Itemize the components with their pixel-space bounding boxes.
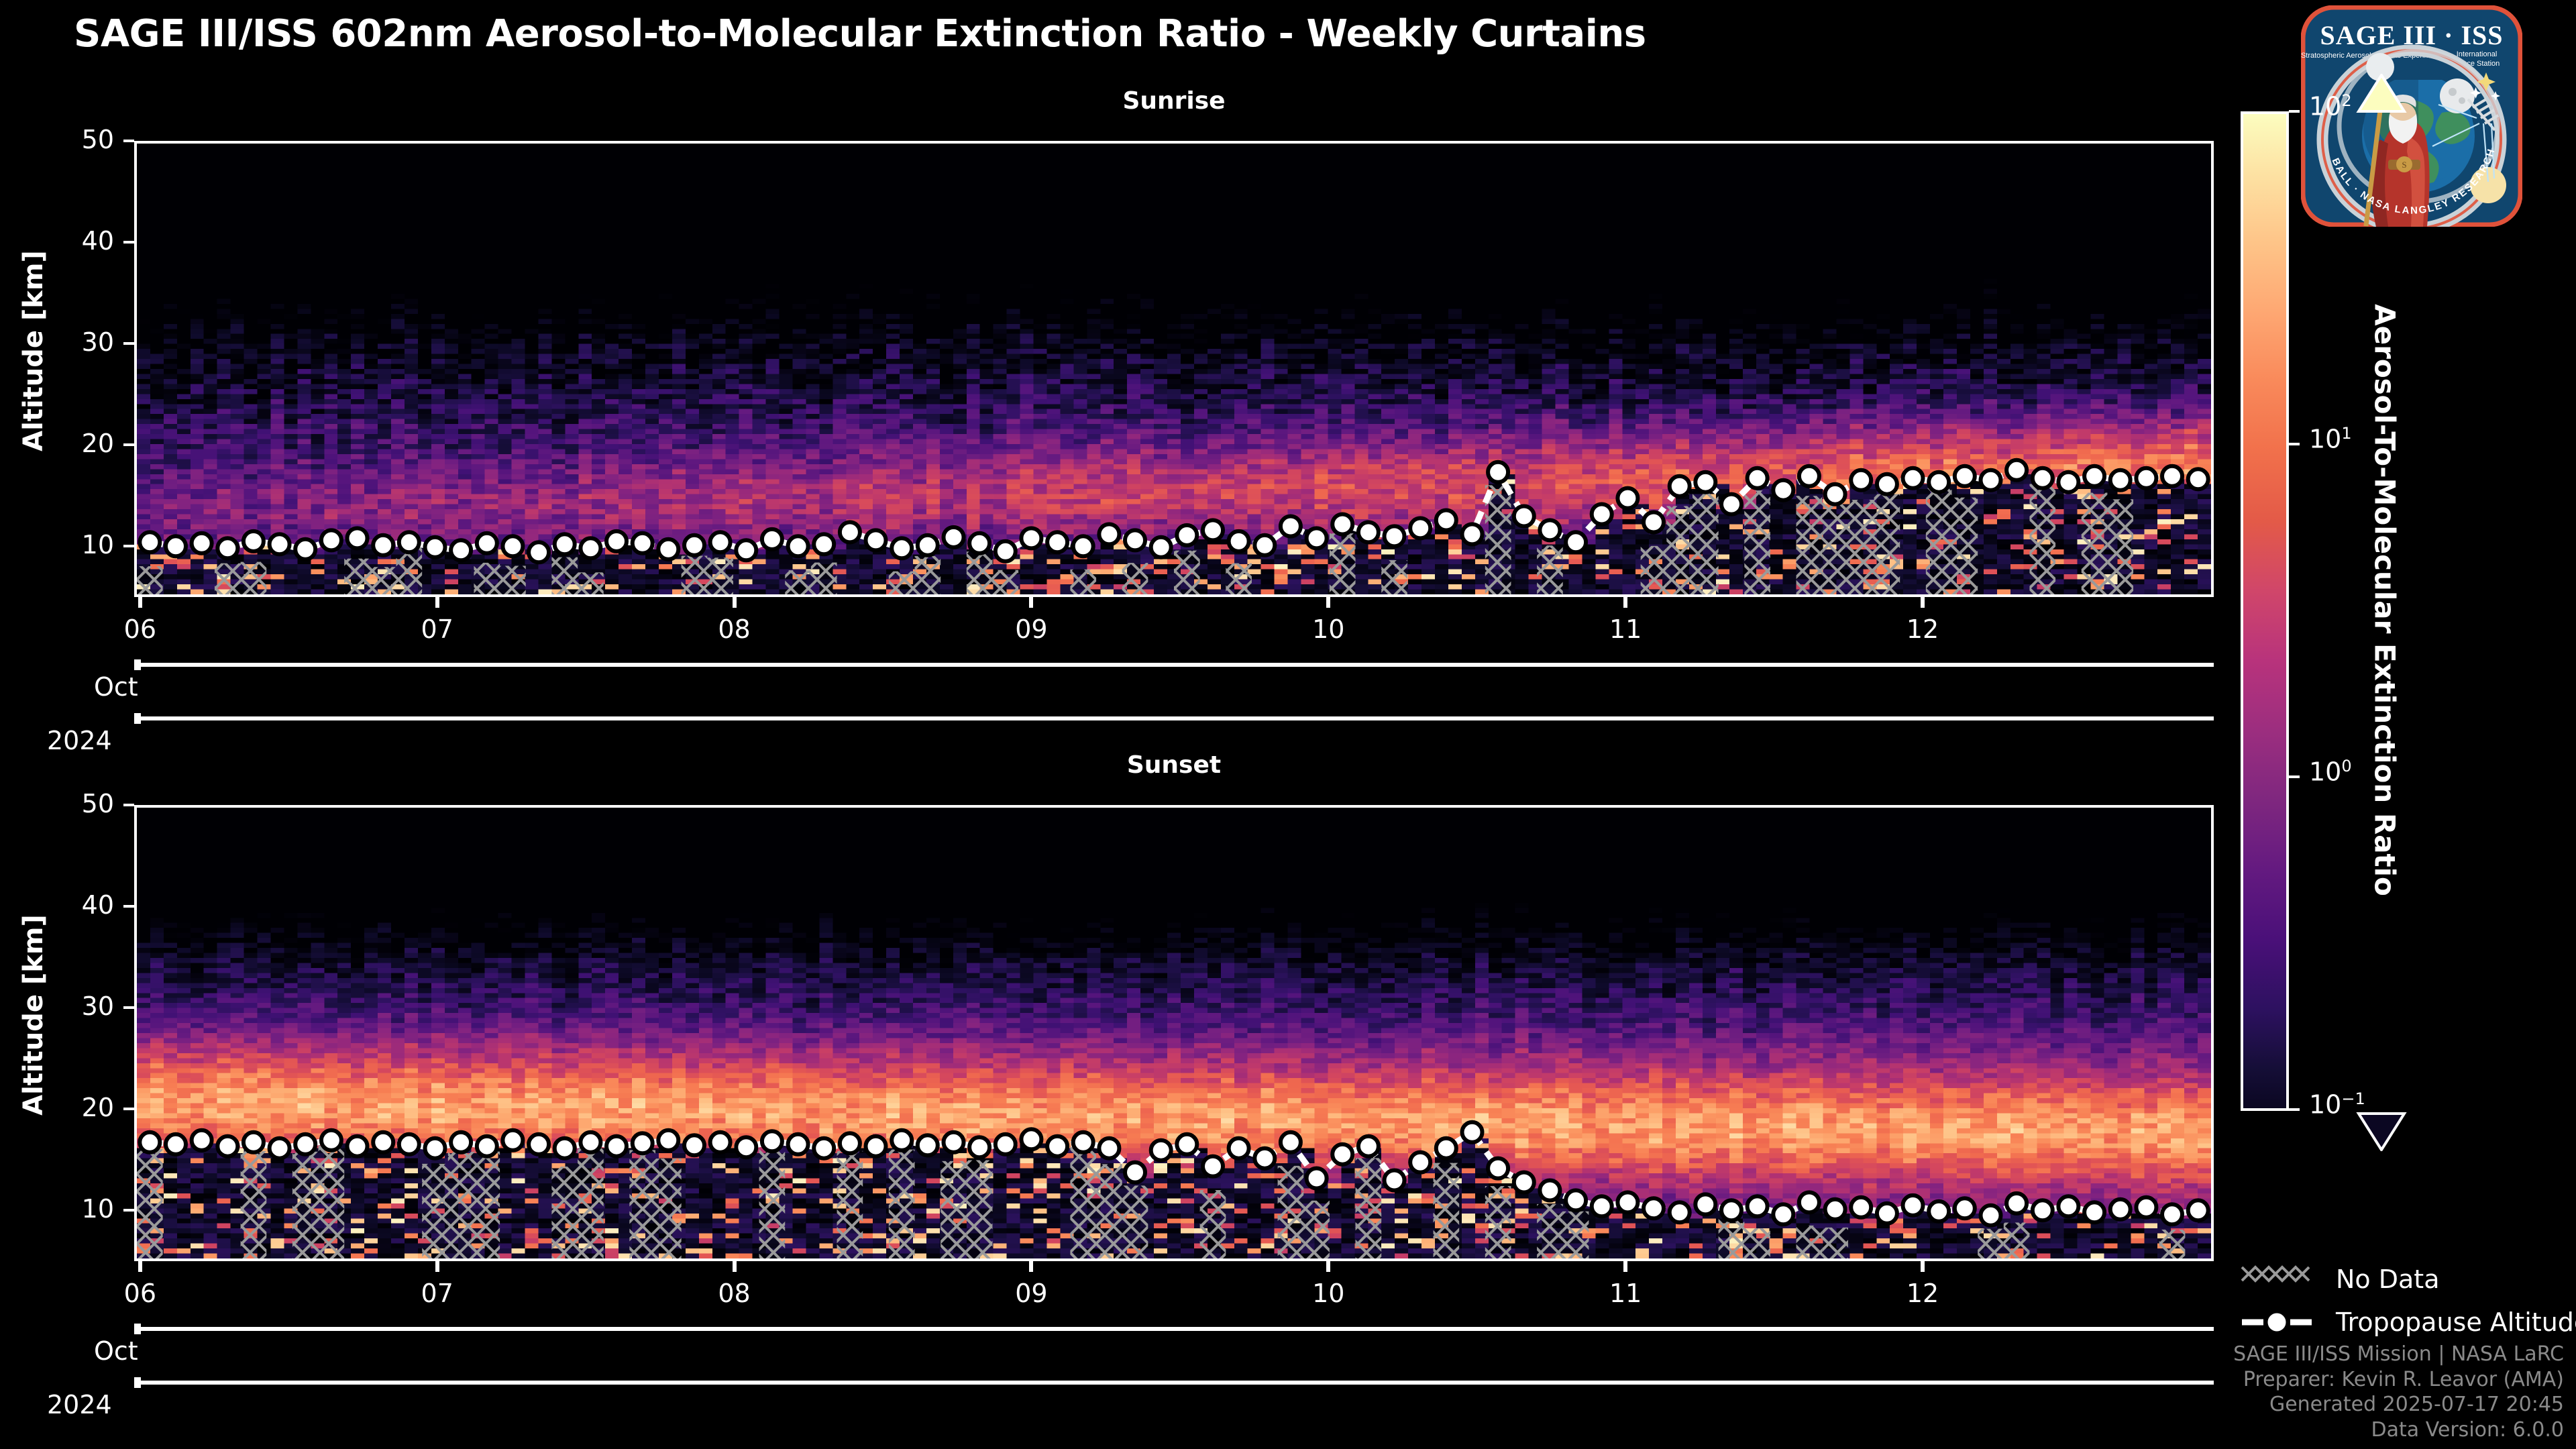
no-data-hatch-block — [292, 1152, 319, 1258]
tropopause-marker — [814, 534, 834, 554]
tropopause-marker — [1047, 1136, 1067, 1157]
x-tick-mark — [138, 597, 142, 608]
tropopause-marker — [1773, 480, 1793, 500]
y-tick-mark — [123, 1108, 134, 1110]
legend-item-tropopause[interactable]: Tropopause Altitude — [2241, 1304, 2576, 1340]
tropopause-marker — [1099, 524, 1119, 544]
y-tick-label: 10 — [27, 1194, 114, 1224]
tropopause-marker — [1462, 1122, 1483, 1142]
tropopause-marker — [1540, 520, 1560, 540]
date-row-month-label: Oct — [94, 672, 138, 702]
y-tick-label: 30 — [27, 327, 114, 357]
no-data-hatch-block — [941, 1161, 967, 1258]
tropopause-marker — [1592, 1196, 1612, 1216]
x-tick-label: 08 — [694, 1279, 775, 1308]
tropopause-marker — [244, 531, 264, 551]
tropopause-marker — [192, 1130, 212, 1150]
no-data-hatch-block — [1226, 563, 1252, 594]
tropopause-marker — [1644, 1198, 1664, 1218]
legend-item-no-data[interactable]: No Data — [2241, 1261, 2576, 1297]
no-data-hatch-block — [1978, 1229, 2004, 1258]
tropopause-marker — [555, 1138, 575, 1159]
tropopause-marker — [788, 1134, 808, 1155]
tropopause-marker — [1099, 1138, 1119, 1159]
tropopause-marker — [866, 1136, 886, 1157]
no-data-hatch-block — [2004, 1222, 2030, 1258]
x-tick-label: 12 — [1882, 1279, 1963, 1308]
x-tick-label: 10 — [1288, 1279, 1368, 1308]
no-data-hatch-block — [241, 562, 267, 594]
legend-label-tropopause: Tropopause Altitude — [2336, 1307, 2576, 1337]
tropopause-marker — [1073, 536, 1093, 556]
no-data-hatch-block — [370, 567, 396, 594]
tropopause-marker — [1307, 1169, 1327, 1189]
no-data-hatch-block — [474, 563, 500, 594]
tropopause-marker — [1281, 1132, 1301, 1152]
no-data-hatch-block — [422, 1164, 448, 1258]
y-tick-mark — [123, 140, 134, 142]
no-data-hatch-block — [1174, 551, 1200, 594]
no-data-hatch-block — [1641, 546, 1667, 594]
y-tick-mark — [123, 342, 134, 345]
tropopause-marker — [1514, 1173, 1534, 1193]
legend: No Data Tropopause Altitude — [2241, 1261, 2576, 1347]
no-data-hatch-block — [1356, 1158, 1382, 1258]
y-tick-mark — [123, 241, 134, 244]
tropopause-marker — [451, 540, 471, 560]
tropopause-marker — [1592, 504, 1612, 525]
date-row-month-cap — [134, 659, 141, 670]
tropopause-marker — [2006, 460, 2027, 480]
colorbar-tick-label-1e1: 101 — [2309, 424, 2352, 454]
tropopause-marker — [606, 1136, 627, 1157]
tropopause-marker — [477, 533, 497, 553]
tropopause-marker — [1436, 1138, 1456, 1159]
tropopause-marker — [1877, 474, 1897, 494]
y-tick-label: 30 — [27, 991, 114, 1021]
tropopause-marker — [477, 1136, 497, 1157]
tropopause-marker — [140, 532, 160, 552]
y-tick-label: 10 — [27, 530, 114, 559]
tropopause-marker — [347, 528, 368, 548]
tropopause-marker — [1644, 513, 1664, 533]
tropopause-marker — [1203, 1157, 1223, 1177]
tropopause-marker — [840, 1133, 860, 1153]
tropopause-marker — [684, 1135, 704, 1155]
tropopause-marker — [1748, 468, 1768, 488]
tropopause-overlay-sunset — [137, 808, 2211, 1258]
tropopause-marker — [2162, 1204, 2182, 1224]
no-data-hatch-block — [2107, 499, 2133, 594]
tropopause-marker — [295, 539, 315, 559]
no-data-hatch-block — [1719, 1218, 1745, 1258]
tropopause-marker — [2136, 468, 2156, 488]
tropopause-marker — [606, 531, 627, 551]
tropopause-marker — [1929, 1201, 1949, 1222]
tropopause-marker — [2162, 466, 2182, 486]
colorbar[interactable]: 102 101 100 10−1 Aerosol-To-Molecular Ex… — [2241, 74, 2522, 1221]
colorbar-tick-mark-1e0 — [2289, 775, 2300, 778]
tropopause-marker — [1203, 520, 1223, 540]
colorbar-gradient — [2243, 114, 2286, 1108]
colorbar-tick-mantissa: 10 — [2309, 757, 2341, 787]
tropopause-marker — [892, 1130, 912, 1150]
date-row-month-label: Oct — [94, 1336, 138, 1366]
tropopause-marker — [555, 534, 575, 554]
date-row-month — [134, 1327, 2214, 1331]
no-data-hatch-block — [2082, 492, 2108, 594]
tropopause-marker — [762, 1131, 782, 1151]
tropopause-marker — [1825, 1199, 1845, 1220]
tropopause-marker — [1514, 506, 1534, 527]
tropopause-marker — [710, 1132, 731, 1152]
tropopause-marker — [399, 1134, 419, 1155]
tropopause-marker — [788, 536, 808, 556]
tropopause-marker — [1125, 530, 1145, 550]
tropopause-marker — [1566, 532, 1586, 552]
no-data-hatch-block — [967, 551, 993, 594]
date-row-year-cap — [134, 1377, 141, 1388]
panel-title-sunset: Sunset — [134, 751, 2214, 779]
tropopause-marker — [1332, 1144, 1352, 1165]
tropopause-marker — [2033, 1200, 2053, 1220]
tropopause-marker — [321, 530, 341, 550]
y-tick-mark — [123, 443, 134, 446]
x-tick-mark — [1326, 1261, 1330, 1272]
tropopause-marker — [1981, 1205, 2001, 1226]
x-tick-mark — [138, 1261, 142, 1272]
colorbar-tick-exponent: 2 — [2341, 91, 2351, 110]
tropopause-marker — [1825, 484, 1845, 504]
tropopause-marker — [1254, 535, 1275, 555]
footer-credits: SAGE III/ISS Mission | NASA LaRC Prepare… — [2233, 1342, 2564, 1442]
no-data-hatch-block — [137, 566, 163, 594]
tropopause-marker — [633, 1133, 653, 1153]
tropopause-marker — [451, 1132, 471, 1152]
no-data-hatch-block — [811, 563, 837, 594]
tropopause-marker — [1229, 1138, 1249, 1159]
no-data-hatch-block — [2159, 1230, 2186, 1258]
tropopause-marker — [684, 535, 704, 555]
tropopause-marker — [1177, 1134, 1197, 1155]
hatch-cross-icon — [2241, 1265, 2321, 1294]
y-tick-mark — [123, 1006, 134, 1009]
tropopause-marker — [1488, 462, 1508, 482]
tropopause-marker — [502, 1130, 523, 1150]
colorbar-tick-exponent: 1 — [2341, 424, 2351, 443]
x-tick-mark — [1921, 597, 1925, 608]
colorbar-tick-mantissa: 10 — [2309, 1090, 2341, 1120]
no-data-hatch-block — [785, 570, 811, 594]
tropopause-marker — [1617, 1192, 1638, 1212]
tropopause-marker — [866, 530, 886, 550]
no-data-hatch-block — [1693, 490, 1719, 594]
no-data-hatch-block — [1822, 1228, 1848, 1258]
y-tick-label: 50 — [27, 125, 114, 154]
no-data-hatch-block — [1122, 563, 1148, 594]
no-data-hatch-block — [1096, 1164, 1122, 1258]
footer-line-generated: Generated 2025-07-17 20:45 — [2233, 1392, 2564, 1417]
x-tick-label: 06 — [100, 1279, 180, 1308]
x-tick-mark — [1623, 1261, 1627, 1272]
date-row-month-cap — [134, 1324, 141, 1334]
tropopause-marker — [1254, 1148, 1275, 1169]
tropopause-marker — [2006, 1193, 2027, 1214]
tropopause-marker — [2084, 1202, 2104, 1222]
date-row-year-label: 2024 — [47, 1390, 112, 1419]
tropopause-marker — [2188, 469, 2208, 489]
no-data-hatch-block — [1563, 1212, 1589, 1258]
x-tick-label: 07 — [397, 614, 478, 644]
x-tick-label: 07 — [397, 1279, 478, 1308]
y-tick-mark — [123, 545, 134, 547]
x-tick-mark — [1029, 1261, 1033, 1272]
tropopause-marker — [918, 535, 938, 555]
tropopause-marker — [892, 538, 912, 558]
dashed-line-marker-icon — [2241, 1307, 2321, 1337]
no-data-hatch-block — [1848, 500, 1874, 594]
tropopause-marker — [425, 537, 445, 557]
tropopause-marker — [2058, 1196, 2078, 1216]
tropopause-marker — [2084, 466, 2104, 486]
no-data-hatch-block — [707, 557, 733, 594]
tropopause-marker — [2033, 468, 2053, 488]
panel-title-sunrise: Sunrise — [134, 87, 2214, 115]
tropopause-marker — [710, 532, 731, 552]
no-data-hatch-block — [396, 547, 423, 594]
no-data-hatch-block — [215, 563, 241, 594]
x-tick-label: 08 — [694, 614, 775, 644]
tropopause-marker — [2058, 472, 2078, 492]
no-data-hatch-block — [319, 1146, 345, 1258]
tropopause-marker — [270, 534, 290, 554]
no-data-hatch-block — [578, 1148, 604, 1258]
y-tick-mark — [123, 804, 134, 806]
no-data-hatch-block — [1303, 1201, 1330, 1258]
no-data-hatch-block — [682, 556, 708, 594]
colorbar-axis-label: Aerosol-To-Molecular Extinction Ratio — [2369, 198, 2402, 1003]
tropopause-marker — [1695, 472, 1715, 492]
no-data-hatch-block — [1122, 1185, 1148, 1258]
tropopause-marker — [1981, 470, 2001, 490]
tropopause-marker — [918, 1135, 938, 1155]
no-data-hatch-block — [1278, 1166, 1304, 1258]
tropopause-marker — [969, 533, 989, 553]
svg-text:International: International — [2457, 50, 2498, 58]
colorbar-extend-bottom-arrow — [2241, 1111, 2522, 1151]
tropopause-marker — [1566, 1190, 1586, 1210]
no-data-hatch-block — [1744, 1228, 1770, 1258]
date-row-year-cap — [134, 713, 141, 724]
no-data-hatch-block — [1796, 496, 1823, 594]
no-data-hatch-block — [1874, 494, 1900, 594]
tropopause-marker — [373, 535, 393, 555]
tropopause-marker — [1851, 1197, 1871, 1218]
heatmap-plot-sunset[interactable] — [134, 805, 2214, 1261]
colorbar-tick-mark-1e-1 — [2289, 1108, 2300, 1111]
tropopause-marker — [1307, 528, 1327, 548]
tropopause-marker — [1903, 1195, 1923, 1216]
no-data-hatch-block — [1070, 1146, 1096, 1258]
tropopause-marker — [321, 1130, 341, 1150]
no-data-hatch-block — [992, 570, 1018, 594]
colorbar-tick-exponent: 0 — [2341, 757, 2351, 775]
tropopause-marker — [1670, 1202, 1690, 1222]
tropopause-marker — [2136, 1197, 2156, 1218]
tropopause-marker — [270, 1138, 290, 1159]
x-tick-mark — [1029, 597, 1033, 608]
tropopause-marker — [1748, 1196, 1768, 1216]
x-tick-label: 12 — [1882, 614, 1963, 644]
tropopause-marker — [347, 1136, 368, 1157]
tropopause-marker — [1281, 517, 1301, 537]
x-tick-label: 09 — [991, 614, 1071, 644]
panel-sunset: Sunset Altitude [km] — [0, 751, 2214, 1375]
x-tick-label: 11 — [1585, 1279, 1666, 1308]
no-data-hatch-block — [1926, 488, 1952, 594]
tropopause-marker — [529, 542, 549, 562]
x-tick-label: 11 — [1585, 614, 1666, 644]
tropopause-marker — [580, 538, 600, 558]
tropopause-marker — [1929, 472, 1949, 492]
tropopause-marker — [996, 1134, 1016, 1155]
tropopause-marker — [1955, 466, 1975, 486]
y-tick-label: 50 — [27, 789, 114, 818]
no-data-hatch-block — [578, 572, 604, 594]
tropopause-marker — [658, 539, 678, 559]
tropopause-marker — [1773, 1204, 1793, 1224]
tropopause-marker — [192, 533, 212, 553]
no-data-hatch-block — [655, 1159, 682, 1258]
no-data-hatch-block — [448, 1152, 474, 1258]
no-data-hatch-block — [915, 556, 941, 594]
tropopause-marker — [502, 536, 523, 556]
tropopause-marker — [1955, 1198, 1975, 1218]
tropopause-marker — [529, 1134, 549, 1155]
no-data-hatch-block — [889, 572, 915, 594]
tropopause-marker — [1047, 532, 1067, 552]
tropopause-marker — [1229, 531, 1249, 551]
tropopause-marker — [217, 538, 237, 558]
tropopause-marker — [1436, 511, 1456, 531]
no-data-hatch-block — [889, 1150, 915, 1258]
tropopause-marker — [658, 1130, 678, 1150]
colorbar-extend-top-arrow — [2241, 74, 2522, 114]
tropopause-marker — [1617, 488, 1638, 508]
tropopause-marker — [1903, 468, 1923, 488]
tropopause-marker — [1358, 522, 1379, 542]
x-tick-mark — [435, 597, 439, 608]
tropopause-marker — [1332, 515, 1352, 535]
no-data-hatch-block — [1434, 1163, 1460, 1258]
tropopause-overlay-sunrise — [137, 144, 2211, 594]
tropopause-marker — [996, 541, 1016, 561]
colorbar-tick-mantissa: 10 — [2309, 92, 2341, 121]
tropopause-marker — [969, 1137, 989, 1157]
tropopause-marker — [373, 1132, 393, 1152]
date-row-year-label: 2024 — [47, 726, 112, 755]
tropopause-marker — [1177, 525, 1197, 545]
no-data-hatch-block — [967, 1160, 993, 1258]
no-data-hatch-block — [1537, 1204, 1563, 1258]
tropopause-marker — [1540, 1181, 1560, 1201]
tropopause-marker — [1410, 1152, 1430, 1173]
tropopause-marker — [1410, 518, 1430, 538]
no-data-hatch-block — [1744, 490, 1770, 594]
colorbar-tick-exponent: −1 — [2341, 1089, 2365, 1108]
no-data-hatch-block — [1666, 506, 1693, 594]
colorbar-tick-label-1e2: 102 — [2309, 91, 2352, 121]
tropopause-marker — [2110, 1199, 2131, 1220]
x-tick-mark — [733, 1261, 737, 1272]
tropopause-marker — [140, 1132, 160, 1152]
no-data-hatch-block — [551, 1167, 578, 1258]
no-data-hatch-block — [629, 1150, 655, 1258]
tropopause-marker — [840, 522, 860, 542]
tropopause-marker — [1877, 1203, 1897, 1224]
colorbar-tick-mark-1e2 — [2289, 110, 2300, 113]
tropopause-marker — [2110, 470, 2131, 490]
tropopause-marker — [736, 1137, 756, 1157]
colorbar-tick-label-1e0: 100 — [2309, 757, 2352, 787]
tropopause-marker — [762, 529, 782, 549]
tropopause-marker — [1488, 1159, 1508, 1179]
no-data-hatch-block — [1200, 1190, 1226, 1258]
tropopause-marker — [1799, 466, 1819, 486]
no-data-hatch-block — [500, 566, 526, 594]
heatmap-plot-sunrise[interactable] — [134, 141, 2214, 597]
tropopause-marker — [244, 1132, 264, 1152]
tropopause-marker — [1670, 476, 1690, 496]
x-tick-label: 06 — [100, 614, 180, 644]
colorbar-tick-mark-1e1 — [2289, 443, 2300, 445]
panel-sunrise: Sunrise Altitude [km] — [0, 87, 2214, 711]
no-data-hatch-block — [837, 1151, 863, 1258]
tropopause-marker — [736, 540, 756, 560]
no-data-hatch-block — [1485, 1186, 1511, 1258]
footer-line-preparer: Preparer: Kevin R. Leavor (AMA) — [2233, 1367, 2564, 1393]
no-data-hatch-block — [137, 1149, 163, 1258]
no-data-hatch-block — [1822, 502, 1848, 594]
colorbar-tick-label-1e-1: 10−1 — [2309, 1089, 2365, 1120]
no-data-hatch-block — [344, 559, 370, 594]
tropopause-marker — [1721, 1200, 1741, 1220]
tropopause-marker — [1073, 1132, 1093, 1152]
x-tick-mark — [435, 1261, 439, 1272]
tropopause-marker — [1151, 537, 1171, 557]
tropopause-marker — [633, 533, 653, 553]
no-data-hatch-block — [241, 1151, 267, 1258]
tropopause-marker — [580, 1132, 600, 1152]
x-tick-label: 09 — [991, 1279, 1071, 1308]
tropopause-marker — [1358, 1136, 1379, 1157]
tropopause-marker — [1021, 1129, 1041, 1149]
tropopause-marker — [1721, 494, 1741, 515]
tropopause-marker — [217, 1136, 237, 1157]
no-data-hatch-block — [1381, 560, 1407, 594]
tropopause-marker — [1851, 470, 1871, 490]
tropopause-marker — [1799, 1192, 1819, 1212]
no-data-hatch-block — [551, 557, 578, 594]
tropopause-marker — [295, 1134, 315, 1155]
no-data-hatch-block — [1952, 498, 1978, 594]
x-tick-mark — [733, 597, 737, 608]
tropopause-marker — [1021, 528, 1041, 548]
no-data-hatch-block — [759, 1147, 786, 1258]
footer-line-mission: SAGE III/ISS Mission | NASA LaRC — [2233, 1342, 2564, 1367]
tropopause-marker — [1385, 526, 1405, 546]
no-data-hatch-block — [1330, 533, 1356, 594]
